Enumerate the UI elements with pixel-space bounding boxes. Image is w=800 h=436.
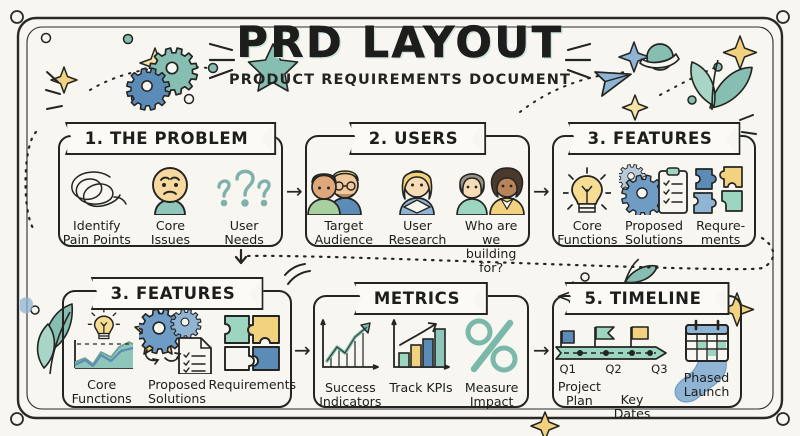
- banner-tail-icon: [261, 125, 272, 153]
- item-label: Core Functions: [557, 219, 617, 247]
- item-label: Proposed Solutions: [148, 378, 206, 406]
- section-features-top[interactable]: 3. FEATURES Core Functions: [552, 135, 756, 247]
- item-requirements[interactable]: Requre- ments: [688, 157, 754, 247]
- page-title: PRD LAYOUT: [0, 22, 800, 65]
- item-label: Requre- ments: [696, 219, 745, 247]
- banner-tail-icon: [714, 285, 725, 313]
- connector-arrow: →: [533, 340, 550, 360]
- section-banner: 5. TIMELINE: [565, 282, 730, 315]
- section-banner: 1. THE PROBLEM: [65, 122, 277, 155]
- section-banner: METRICS: [354, 282, 488, 315]
- item-core-functions[interactable]: Core Functions: [554, 157, 620, 247]
- gears-clipboard-icon: [619, 157, 689, 215]
- item-label: Proposed Solutions: [625, 219, 683, 247]
- avatar-pair-icon: [454, 157, 528, 215]
- avatar-group-icon: [307, 157, 381, 215]
- connector-arrow: →: [286, 181, 303, 201]
- item-proposed-solutions[interactable]: Proposed Solutions: [621, 157, 687, 247]
- item-label: Success Indicators: [319, 381, 381, 409]
- item-core-issues[interactable]: Core Issues: [134, 157, 207, 247]
- item-label: Who are we building for?: [455, 219, 528, 275]
- lightbulb-icon: [563, 157, 611, 215]
- item-track-kpis[interactable]: Track KPIs: [386, 315, 456, 395]
- item-label: User Research: [389, 219, 447, 247]
- line-chart-icon: [317, 315, 383, 377]
- item-label: Core Issues: [151, 219, 190, 247]
- item-phased-launch[interactable]: Phased Launch: [675, 317, 738, 399]
- sad-face-icon: [144, 157, 196, 215]
- scribble-icon: [66, 157, 128, 215]
- section-metrics[interactable]: METRICS Success Indica: [313, 295, 529, 408]
- item-label: Project Plan: [558, 380, 601, 421]
- item-identify-pain-points[interactable]: Identify Pain Points: [60, 157, 133, 247]
- banner-tail-icon: [248, 280, 259, 308]
- section-features-bottom[interactable]: 3. FEATURES: [62, 290, 292, 408]
- item-label: Requirements: [209, 378, 297, 392]
- item-label: Core Functions: [72, 378, 132, 406]
- banner-tail-icon: [471, 125, 482, 153]
- item-measure-impact[interactable]: Measure Impact: [457, 315, 527, 409]
- lightbulb-chart-icon: [67, 310, 137, 374]
- item-label: User Needs: [224, 219, 263, 247]
- section-banner: 3. FEATURES: [91, 277, 264, 310]
- gears-document-icon: [139, 310, 215, 374]
- banner-tail-icon: [473, 285, 484, 313]
- milestone-q3: Q3: [651, 362, 667, 376]
- section-users[interactable]: 2. USERS: [305, 135, 530, 247]
- avatar-icon: [392, 157, 442, 215]
- item-success-indicators[interactable]: Success Indicators: [315, 315, 385, 409]
- section-banner: 2. USERS: [349, 122, 486, 155]
- item-label: Target Audience: [315, 219, 374, 247]
- bar-chart-icon: [388, 315, 454, 377]
- section-banner: 3. FEATURES: [568, 122, 741, 155]
- item-label: Track KPIs: [389, 381, 452, 395]
- item-user-research[interactable]: User Research: [381, 157, 454, 247]
- connector-arrow: →: [294, 340, 311, 360]
- milestone-q1: Q1: [560, 362, 576, 376]
- page-subtitle: PRODUCT REQUIREMENTS DOCUMENT: [0, 72, 800, 88]
- calendar-icon: [682, 317, 732, 367]
- infographic-canvas: PRD LAYOUT PRODUCT REQUIREMENTS DOCUMENT…: [0, 0, 800, 436]
- timeline-arrow-icon: [554, 317, 674, 361]
- item-target-audience[interactable]: Target Audience: [307, 157, 380, 247]
- milestone-labels: Q1 Q2 Q3: [560, 362, 668, 376]
- header: PRD LAYOUT PRODUCT REQUIREMENTS DOCUMENT: [0, 22, 800, 88]
- item-label: Key Dates: [601, 380, 669, 421]
- question-marks-icon: [213, 157, 275, 215]
- item-project-plan-key-dates[interactable]: Q1 Q2 Q3 Project Plan Key Dates: [556, 317, 671, 421]
- section-timeline[interactable]: 5. TIMELINE: [552, 295, 742, 408]
- section-problem[interactable]: 1. THE PROBLEM Identify Pain Points: [58, 135, 283, 247]
- item-proposed-solutions[interactable]: Proposed Solutions: [140, 310, 215, 406]
- percent-icon: [464, 315, 520, 377]
- item-label: Phased Launch: [684, 371, 730, 399]
- item-core-functions[interactable]: Core Functions: [64, 310, 139, 406]
- item-user-needs[interactable]: User Needs: [208, 157, 281, 247]
- milestone-q2: Q2: [605, 362, 621, 376]
- connector-arrow: →: [533, 181, 550, 201]
- item-label: Identify Pain Points: [63, 219, 131, 247]
- item-requirements[interactable]: Requirements: [215, 310, 290, 392]
- puzzle-square-icon: [221, 310, 283, 374]
- banner-tail-icon: [725, 125, 736, 153]
- item-who-building-for[interactable]: Who are we building for?: [455, 157, 528, 275]
- puzzle-pieces-icon: [692, 157, 750, 215]
- item-label: Measure Impact: [465, 381, 519, 409]
